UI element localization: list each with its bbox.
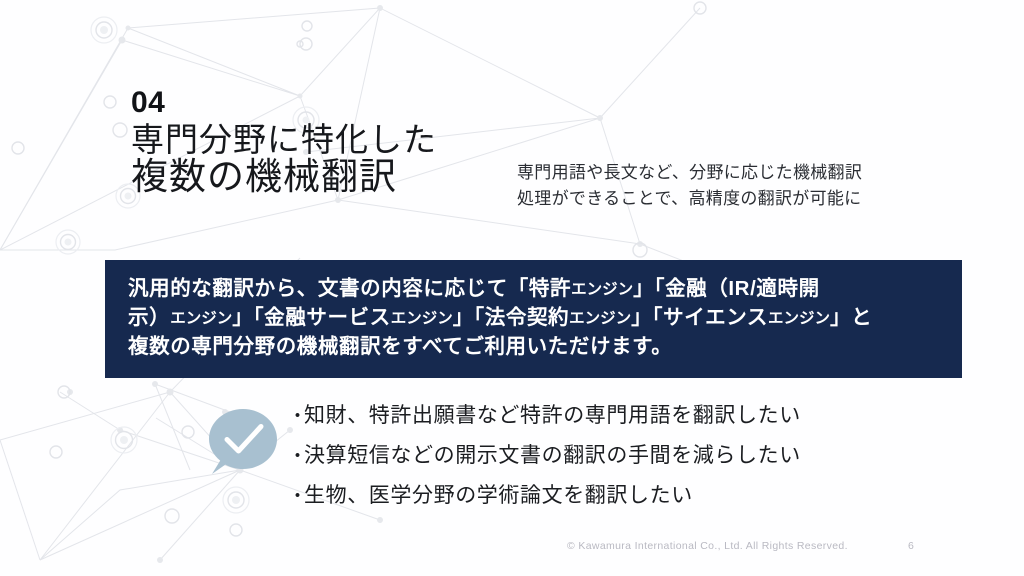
slide-canvas: 04 専門分野に特化した 複数の機械翻訳 専門用語や長文など、分野に応じた機械翻… <box>0 0 1024 576</box>
footer-copyright: © Kawamura International Co., Ltd. All R… <box>567 540 848 552</box>
banner-line-2-engine-label-1: エンジン <box>170 310 232 327</box>
banner-line-3: 複数の専門分野の機械翻訳をすべてご利用いただけます。 <box>128 332 942 361</box>
page-number: 6 <box>908 540 914 552</box>
banner-line-2-part-e: 」と <box>830 306 872 329</box>
banner-line-1-part-a: 汎用的な翻訳から、文書の内容に応じて「特許 <box>128 277 571 300</box>
bullet-text: 知財、特許出願書など特許の専門用語を翻訳したい <box>304 405 801 426</box>
page-title-line-2: 複数の機械翻訳 <box>131 157 437 198</box>
banner-line-2-part-d: 」「サイエンス <box>631 306 768 329</box>
bullet-list: ・ 知財、特許出願書など特許の専門用語を翻訳したい ・ 決算短信などの開示文書の… <box>288 405 801 525</box>
subtitle-line-2: 処理ができることで、高精度の翻訳が可能に <box>517 186 862 212</box>
banner-line-1-engine-label: エンジン <box>571 281 633 298</box>
bullet-text: 決算短信などの開示文書の翻訳の手間を減らしたい <box>304 445 801 466</box>
bullet-marker: ・ <box>288 447 304 466</box>
banner-line-2-engine-label-3: エンジン <box>569 310 631 327</box>
highlight-banner: 汎用的な翻訳から、文書の内容に応じて「特許エンジン」「金融（IR/適時開 示）エ… <box>105 260 962 378</box>
banner-line-2-part-b: 」「金融サービス <box>232 306 391 329</box>
banner-line-2-part-c: 」「法令契約 <box>453 306 569 329</box>
banner-line-2-engine-label-4: エンジン <box>768 310 830 327</box>
banner-line-2-part-a: 示） <box>128 306 170 329</box>
list-item: ・ 知財、特許出願書など特許の専門用語を翻訳したい <box>288 405 801 426</box>
banner-line-2: 示）エンジン」「金融サービスエンジン」「法令契約エンジン」「サイエンスエンジン」… <box>128 303 942 332</box>
list-item: ・ 生物、医学分野の学術論文を翻訳したい <box>288 485 801 506</box>
banner-line-1: 汎用的な翻訳から、文書の内容に応じて「特許エンジン」「金融（IR/適時開 <box>128 274 942 303</box>
subtitle-line-1: 専門用語や長文など、分野に応じた機械翻訳 <box>517 160 862 186</box>
section-number: 04 <box>131 88 437 118</box>
list-item: ・ 決算短信などの開示文書の翻訳の手間を減らしたい <box>288 445 801 466</box>
subtitle-block: 専門用語や長文など、分野に応じた機械翻訳 処理ができることで、高精度の翻訳が可能… <box>517 160 862 213</box>
headline-block: 04 専門分野に特化した 複数の機械翻訳 <box>131 88 437 198</box>
bullet-text: 生物、医学分野の学術論文を翻訳したい <box>304 485 693 506</box>
page-title-line-1: 専門分野に特化した <box>131 122 437 159</box>
banner-line-1-part-b: 」「金融（IR/適時開 <box>633 277 820 300</box>
banner-line-2-engine-label-2: エンジン <box>391 310 453 327</box>
bullet-marker: ・ <box>288 407 304 426</box>
check-bubble-icon <box>206 406 280 480</box>
bullet-marker: ・ <box>288 487 304 506</box>
